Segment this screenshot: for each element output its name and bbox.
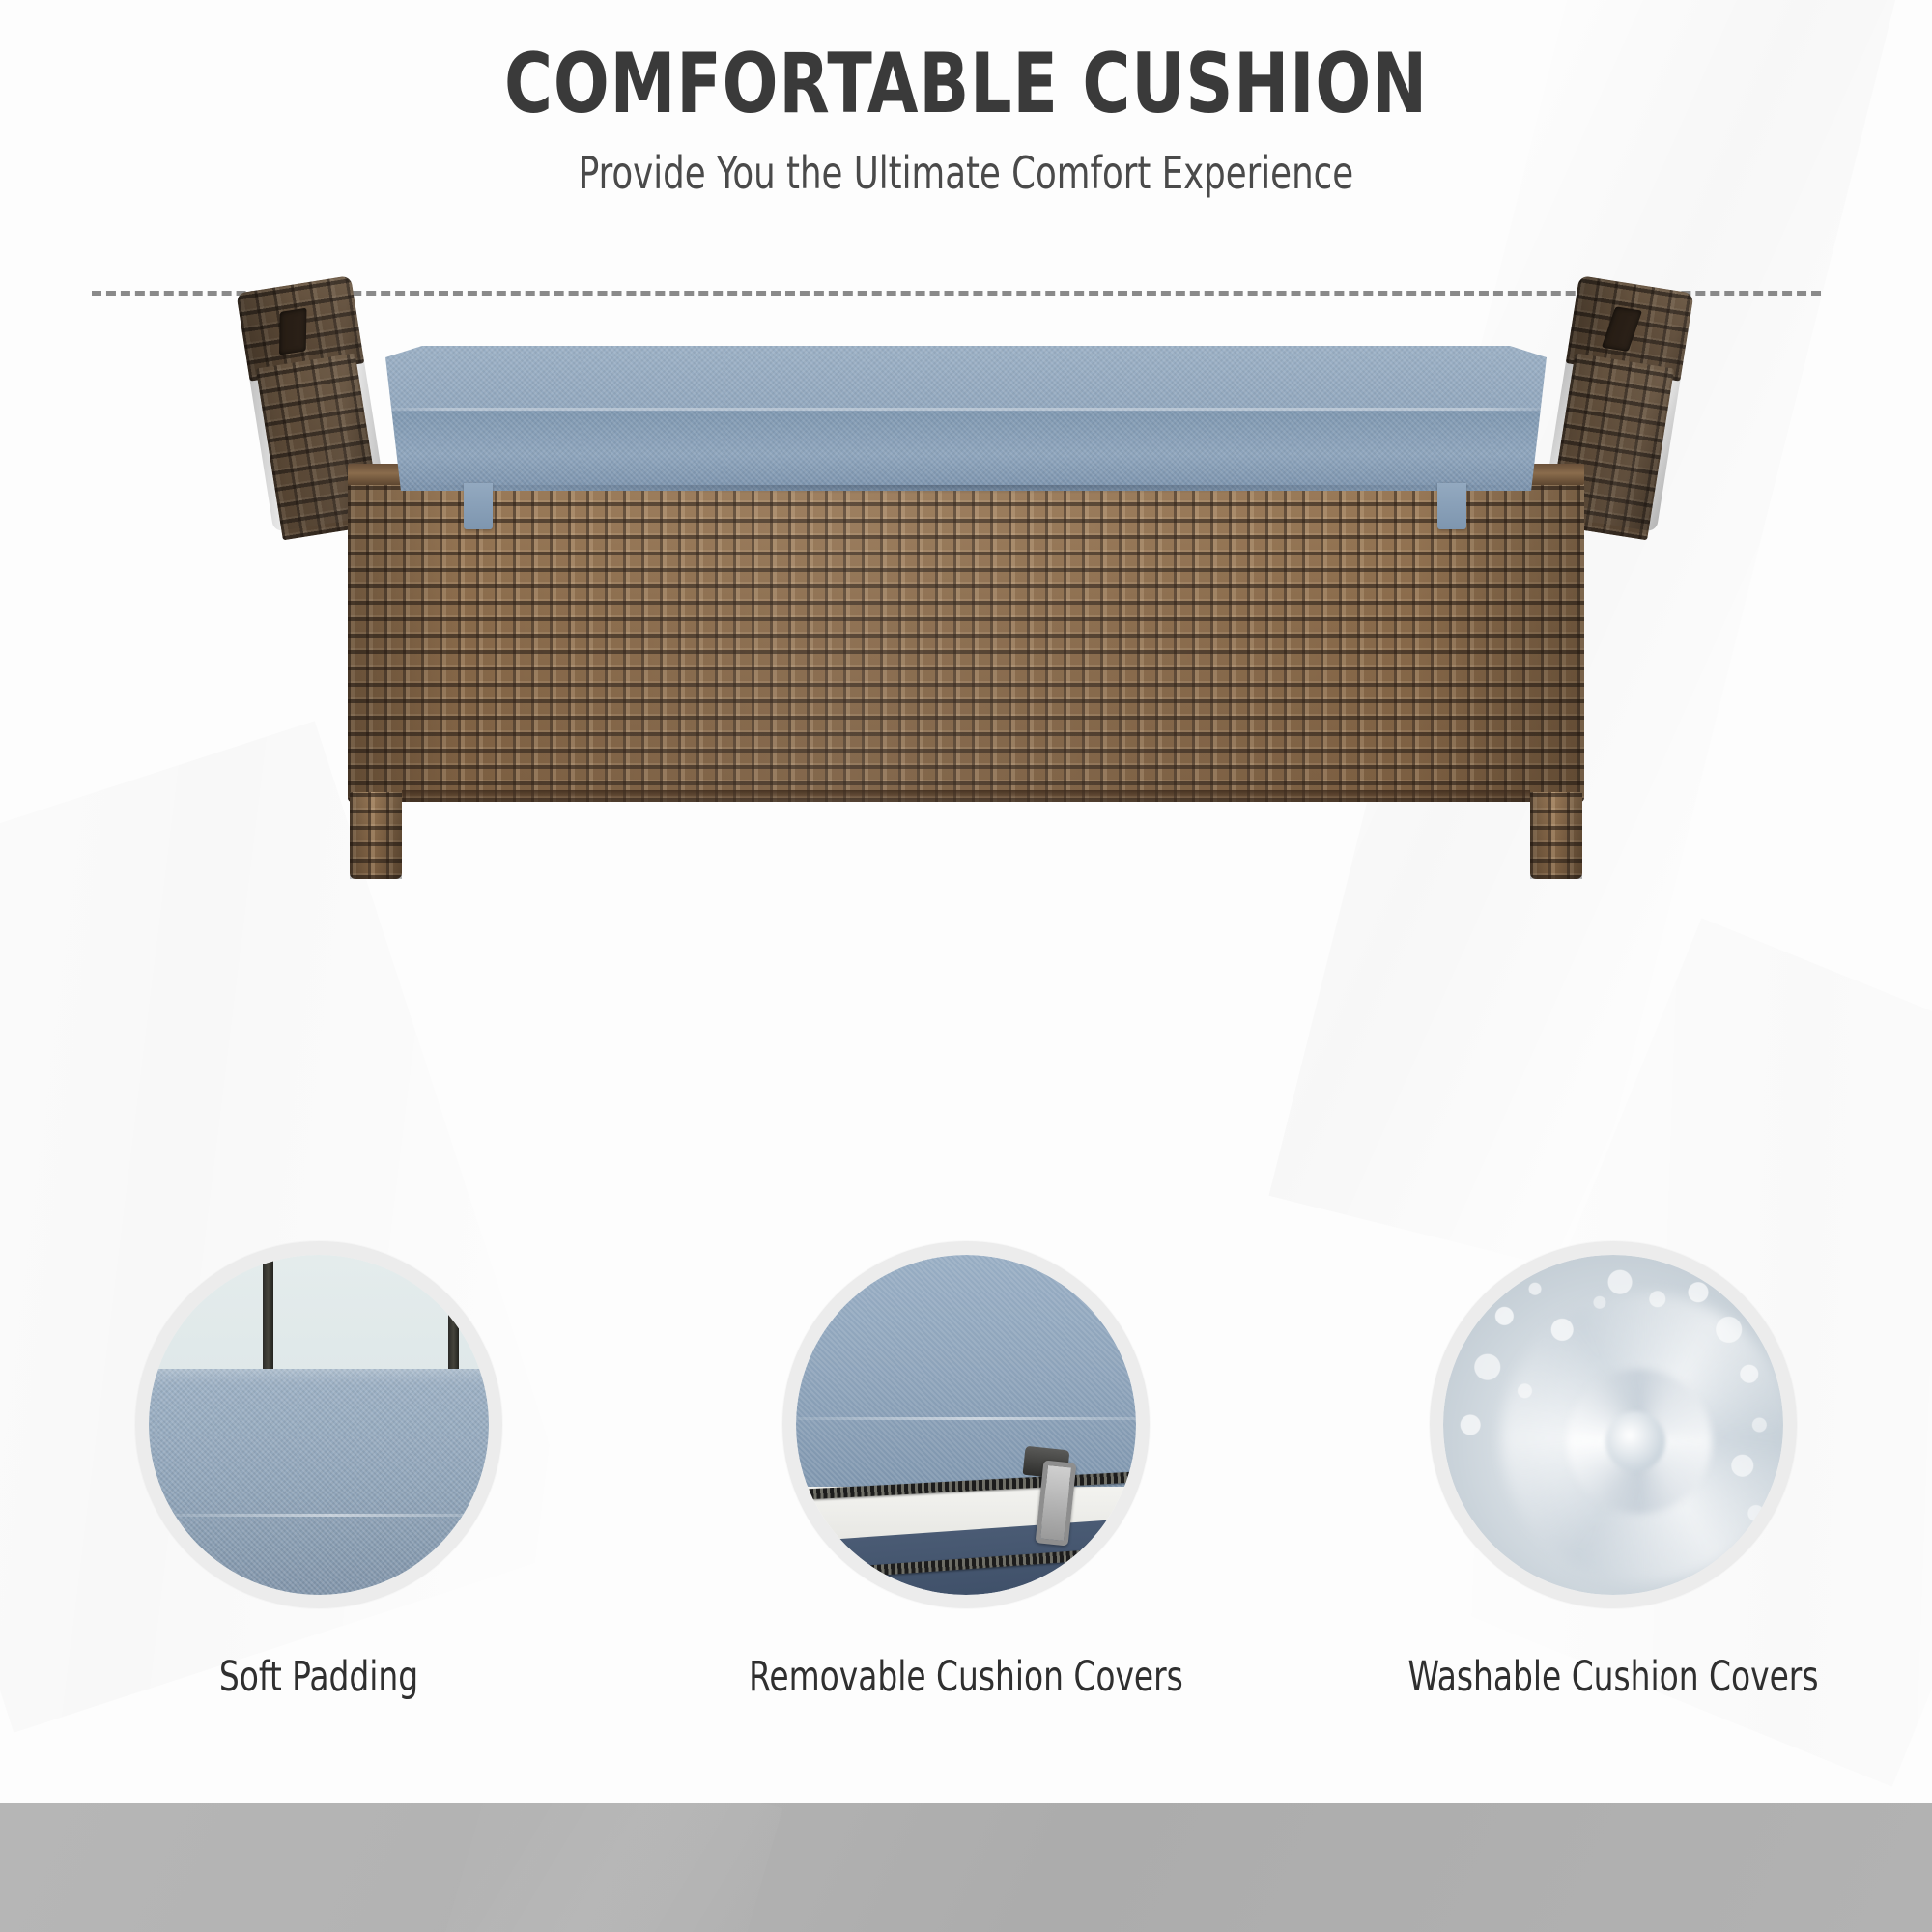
- feature-caption-soft-padding: Soft Padding: [72, 1653, 565, 1701]
- cushion-strap-tab-right: [1437, 483, 1466, 529]
- page-title: COMFORTABLE CUSHION: [116, 0, 1816, 128]
- feature-image-soft-padding: [135, 1241, 502, 1608]
- left-arm-notch: [279, 308, 306, 355]
- feature-caption-washable-covers: Washable Cushion Covers: [1367, 1653, 1860, 1701]
- footer-gray-bar: [0, 1803, 1932, 1932]
- bench-under-apron-shadow: [402, 790, 1530, 802]
- bench-storage-box: [348, 478, 1584, 802]
- cushion-strap-tab-left: [464, 483, 493, 529]
- feature-washable-covers: Washable Cushion Covers: [1323, 1241, 1903, 1701]
- hero-product-image: [0, 319, 1932, 898]
- soft-padding-cushion: [149, 1369, 489, 1595]
- soap-bubbles: [1443, 1255, 1783, 1595]
- feature-image-removable-covers: [782, 1241, 1150, 1608]
- soft-padding-highlight-fold: [149, 1514, 489, 1517]
- product-feature-page: COMFORTABLE CUSHION Provide You the Ulti…: [0, 0, 1932, 1932]
- page-subtitle: Provide You the Ultimate Comfort Experie…: [135, 128, 1797, 198]
- header: COMFORTABLE CUSHION Provide You the Ulti…: [0, 0, 1932, 198]
- zipper-upper-seam: [796, 1417, 1136, 1420]
- bench-seat-cushion: [375, 346, 1557, 491]
- feature-image-washable-covers: [1430, 1241, 1797, 1608]
- wicker-storage-bench: [348, 319, 1584, 879]
- feature-highlights: Soft Padding Removable Cushion Cover: [0, 1241, 1932, 1782]
- cushion-seam-line: [375, 408, 1557, 411]
- feature-removable-covers: Removable Cushion Covers: [676, 1241, 1256, 1701]
- bench-left-leg: [350, 792, 402, 879]
- zipper-upper-cushion-fabric: [796, 1255, 1136, 1487]
- feature-caption-removable-covers: Removable Cushion Covers: [720, 1653, 1212, 1701]
- cushion-drop-shadow: [386, 485, 1546, 494]
- bench-right-leg: [1530, 792, 1582, 879]
- feature-soft-padding: Soft Padding: [29, 1241, 609, 1701]
